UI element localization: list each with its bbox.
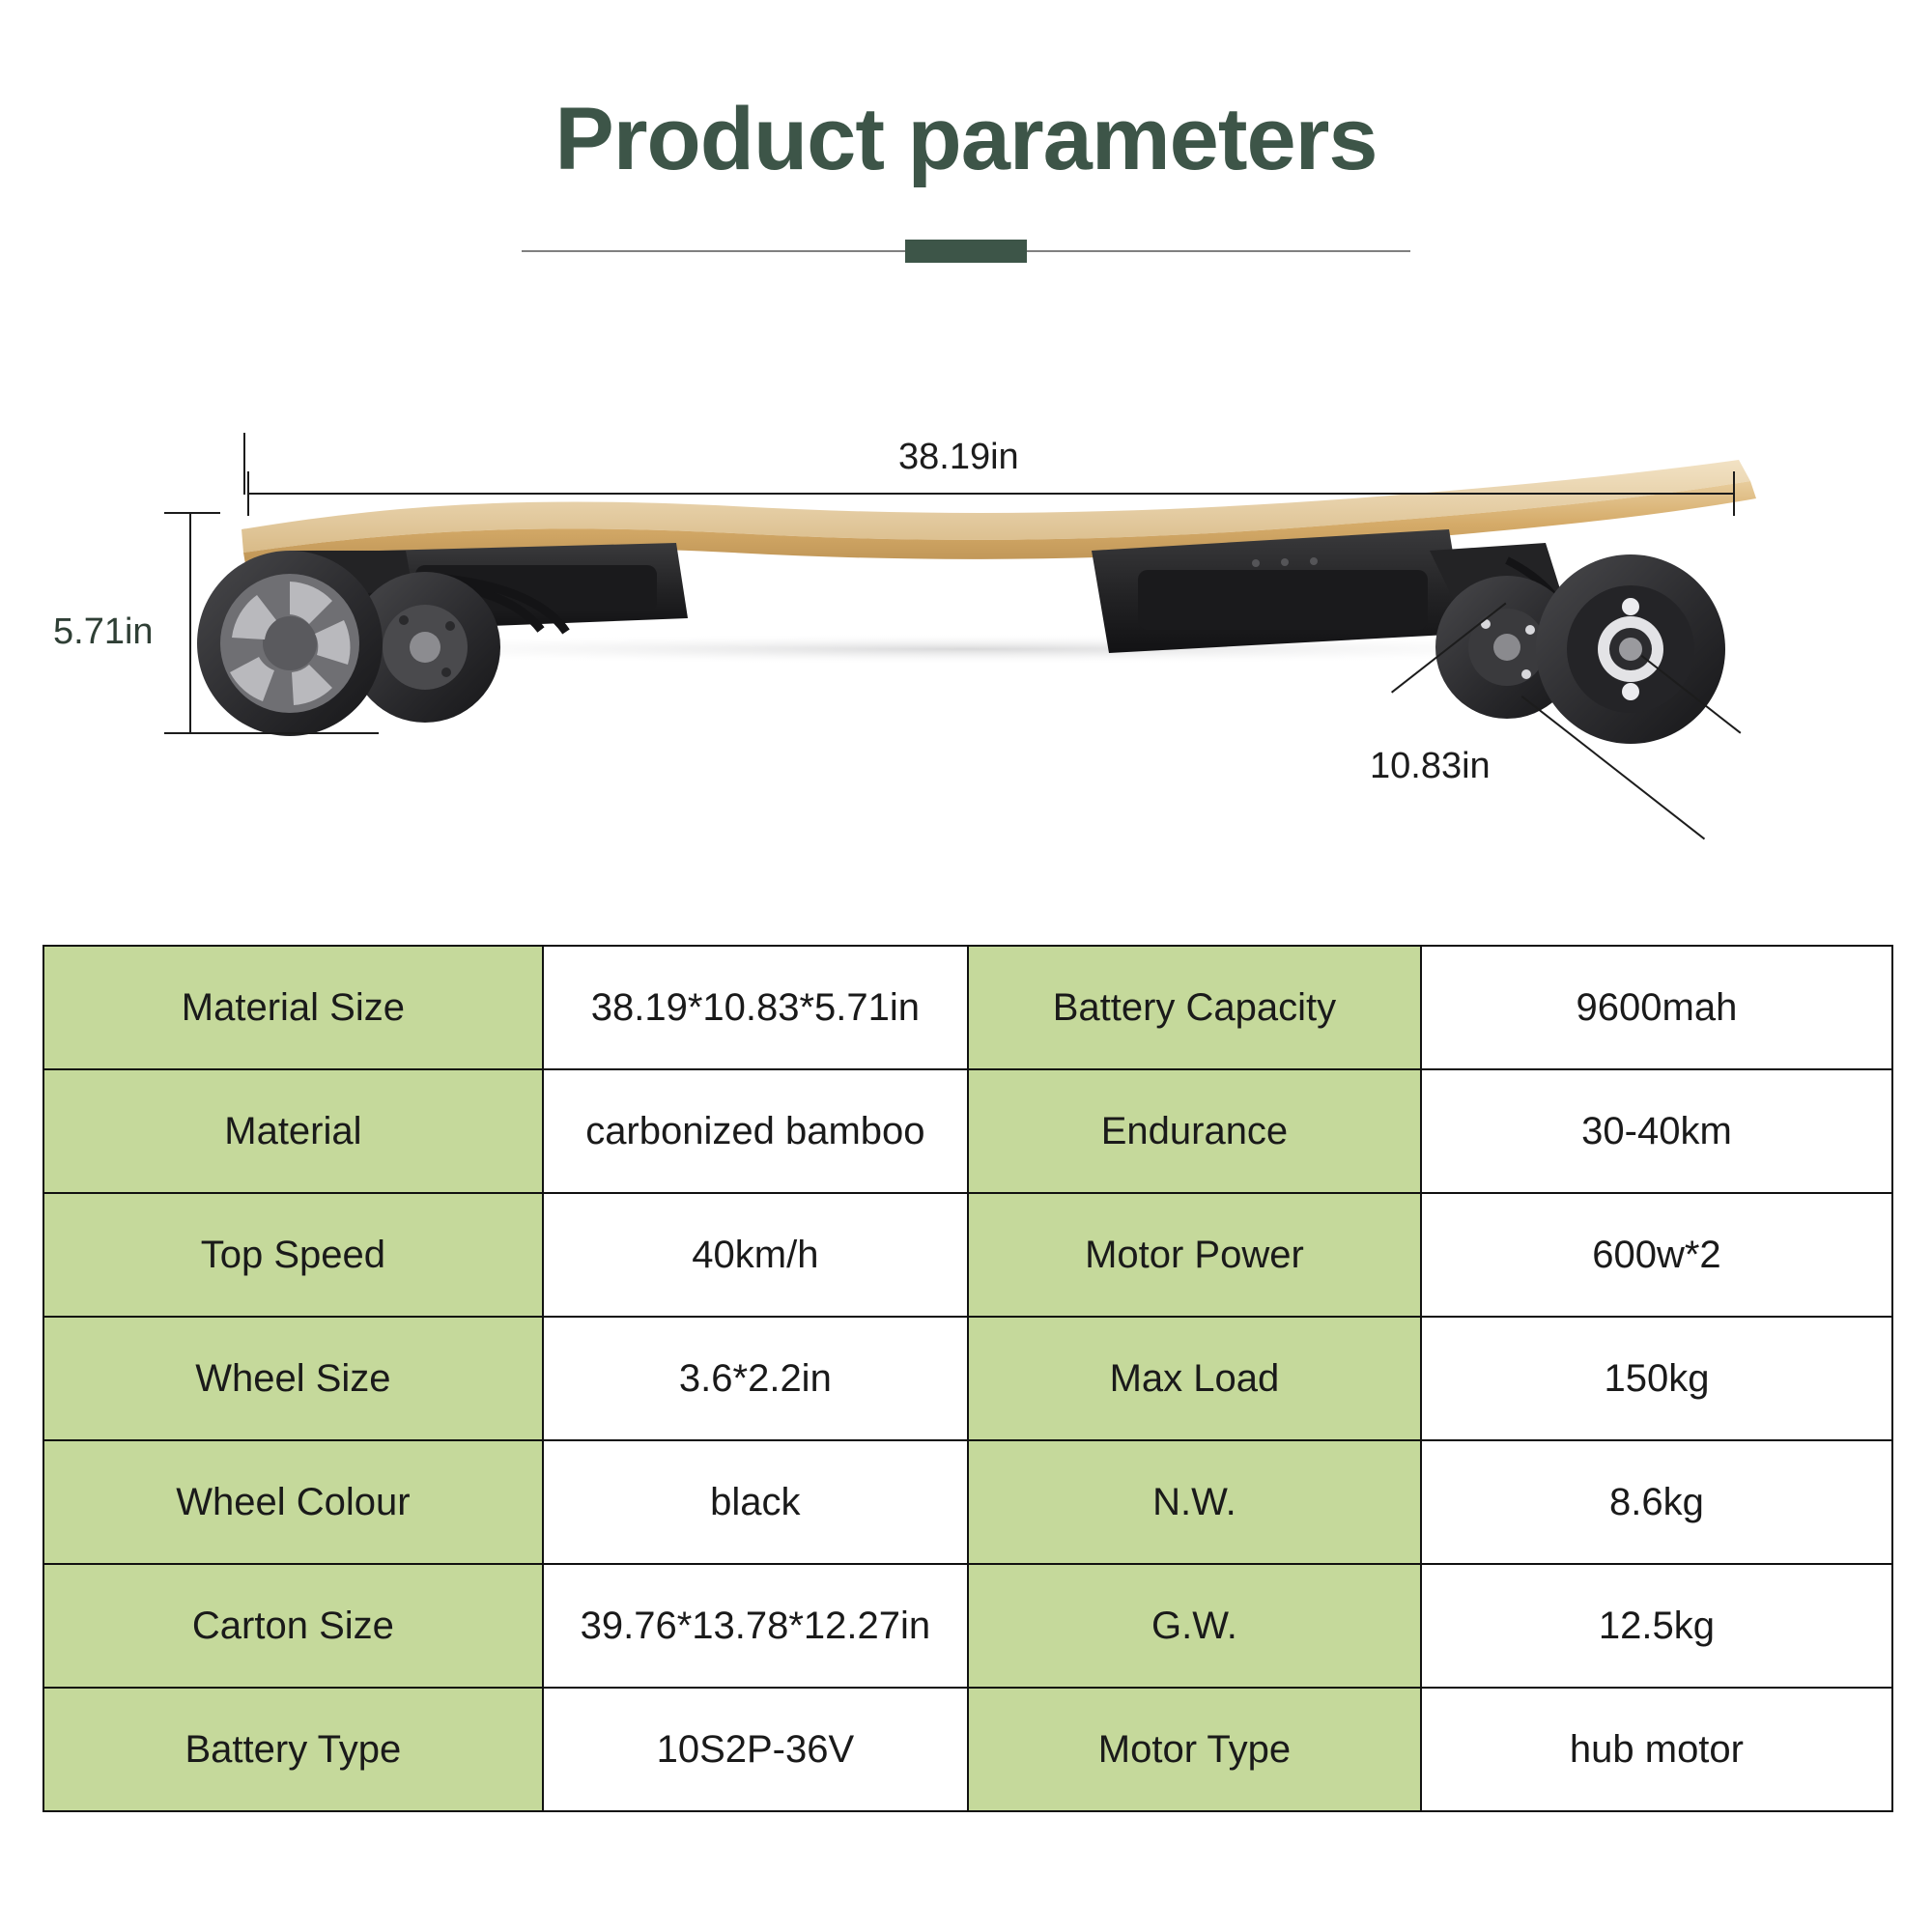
height-dimension-label: 5.71in xyxy=(53,611,154,653)
spec-key: Wheel Size xyxy=(43,1317,543,1440)
spec-key: Endurance xyxy=(968,1069,1421,1193)
spec-key: Top Speed xyxy=(43,1193,543,1317)
table-row: Battery Type 10S2P-36V Motor Type hub mo… xyxy=(43,1688,1892,1811)
page-header: Product parameters xyxy=(0,93,1932,186)
length-dimension-line xyxy=(247,493,1735,495)
table-row: Material Size 38.19*10.83*5.71in Battery… xyxy=(43,946,1892,1069)
title-divider xyxy=(522,240,1410,263)
spec-value: 30-40km xyxy=(1421,1069,1892,1193)
length-dimension-label: 38.19in xyxy=(898,437,1019,478)
spec-key: Material Size xyxy=(43,946,543,1069)
product-parameters-page: Product parameters xyxy=(0,0,1932,1932)
table-row: Top Speed 40km/h Motor Power 600w*2 xyxy=(43,1193,1892,1317)
spec-key: Motor Power xyxy=(968,1193,1421,1317)
spec-key: Motor Type xyxy=(968,1688,1421,1811)
spec-value: 10S2P-36V xyxy=(543,1688,968,1811)
spec-value: 3.6*2.2in xyxy=(543,1317,968,1440)
spec-key: Material xyxy=(43,1069,543,1193)
spec-value: carbonized bamboo xyxy=(543,1069,968,1193)
table-row: Material carbonized bamboo Endurance 30-… xyxy=(43,1069,1892,1193)
spec-key: G.W. xyxy=(968,1564,1421,1688)
spec-key: N.W. xyxy=(968,1440,1421,1564)
spec-value: 12.5kg xyxy=(1421,1564,1892,1688)
height-dimension-line xyxy=(189,512,191,734)
skateboard-illustration xyxy=(0,406,1932,889)
spec-value: 39.76*13.78*12.27in xyxy=(543,1564,968,1688)
spec-value: 600w*2 xyxy=(1421,1193,1892,1317)
spec-key: Max Load xyxy=(968,1317,1421,1440)
depth-dimension-label: 10.83in xyxy=(1370,746,1491,787)
spec-value: 9600mah xyxy=(1421,946,1892,1069)
page-title: Product parameters xyxy=(0,93,1932,186)
spec-value: black xyxy=(543,1440,968,1564)
spec-value: hub motor xyxy=(1421,1688,1892,1811)
table-row: Wheel Size 3.6*2.2in Max Load 150kg xyxy=(43,1317,1892,1440)
spec-key: Battery Capacity xyxy=(968,946,1421,1069)
product-figure: 38.19in 5.71in 10.83in xyxy=(0,406,1932,889)
height-extension-tick xyxy=(189,732,379,734)
spec-key: Battery Type xyxy=(43,1688,543,1811)
spec-value: 150kg xyxy=(1421,1317,1892,1440)
specification-table-body: Material Size 38.19*10.83*5.71in Battery… xyxy=(43,946,1892,1811)
specification-table: Material Size 38.19*10.83*5.71in Battery… xyxy=(43,945,1893,1812)
spec-key: Wheel Colour xyxy=(43,1440,543,1564)
spec-key: Carton Size xyxy=(43,1564,543,1688)
table-row: Wheel Colour black N.W. 8.6kg xyxy=(43,1440,1892,1564)
spec-value: 40km/h xyxy=(543,1193,968,1317)
divider-accent-tab xyxy=(905,240,1027,263)
table-row: Carton Size 39.76*13.78*12.27in G.W. 12.… xyxy=(43,1564,1892,1688)
length-extension-tick xyxy=(243,433,245,495)
spec-value: 8.6kg xyxy=(1421,1440,1892,1564)
spec-value: 38.19*10.83*5.71in xyxy=(543,946,968,1069)
